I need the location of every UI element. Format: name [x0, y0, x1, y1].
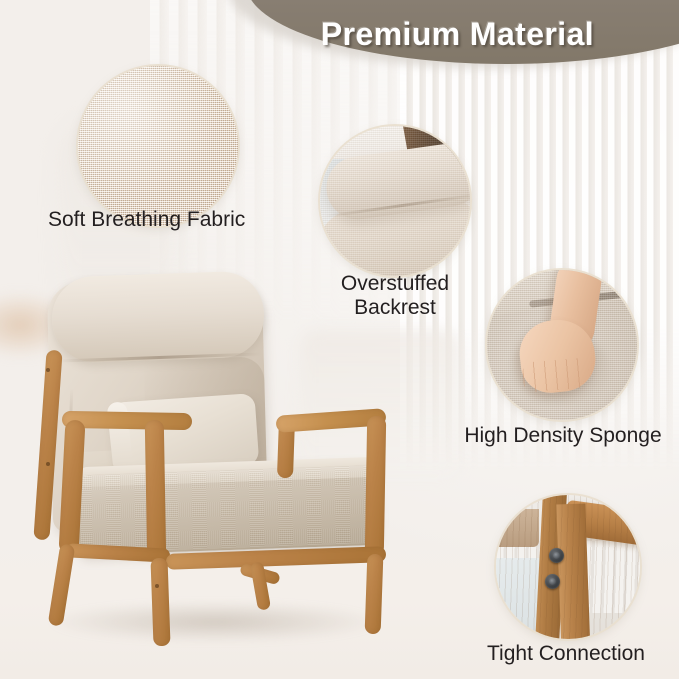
wood-joint-bolts-circle: [496, 495, 640, 639]
chair-seat-weave-texture: [79, 465, 378, 553]
feature-label-overstuffed-backrest: Overstuffed Backrest: [310, 272, 480, 319]
hand-pressing-cushion-circle: [487, 270, 637, 420]
infographic-canvas: Premium Material Soft: [0, 0, 679, 679]
backrest-weave-texture: [320, 126, 470, 276]
feature-label-tight-connection: Tight Connection: [452, 642, 679, 666]
fabric-swatch-circle: [78, 66, 238, 226]
page-title: Premium Material: [236, 6, 679, 62]
chair-armrest-right-front-post: [365, 416, 386, 556]
chair-headrest: [51, 270, 266, 363]
product-armchair: [26, 272, 412, 664]
hand-knuckles: [522, 357, 590, 393]
sponge-photo: [487, 270, 637, 420]
chair-floor-shadow: [50, 602, 380, 642]
feature-label-high-density-sponge: High Density Sponge: [447, 424, 679, 448]
joint-wood-grain: [496, 495, 640, 639]
chair-leg-front-right: [365, 554, 384, 635]
chair-armrest-left-front-post: [145, 420, 166, 562]
feature-label-line-2: Backrest: [310, 296, 480, 320]
chair-screw-dot: [46, 368, 50, 372]
chair-screw-dot: [46, 462, 50, 466]
woven-fabric-texture: [78, 66, 238, 226]
chair-screw-dot: [155, 584, 159, 588]
feature-label-line-1: Overstuffed: [310, 272, 480, 296]
bolt-icon: [549, 548, 564, 563]
backrest-closeup-circle: [320, 126, 470, 276]
chair-leg-front-left: [150, 558, 170, 647]
bolt-icon: [545, 574, 560, 589]
joint-photo: [496, 495, 640, 639]
feature-label-soft-breathing-fabric: Soft Breathing Fabric: [48, 208, 268, 232]
backrest-photo: [320, 126, 470, 276]
